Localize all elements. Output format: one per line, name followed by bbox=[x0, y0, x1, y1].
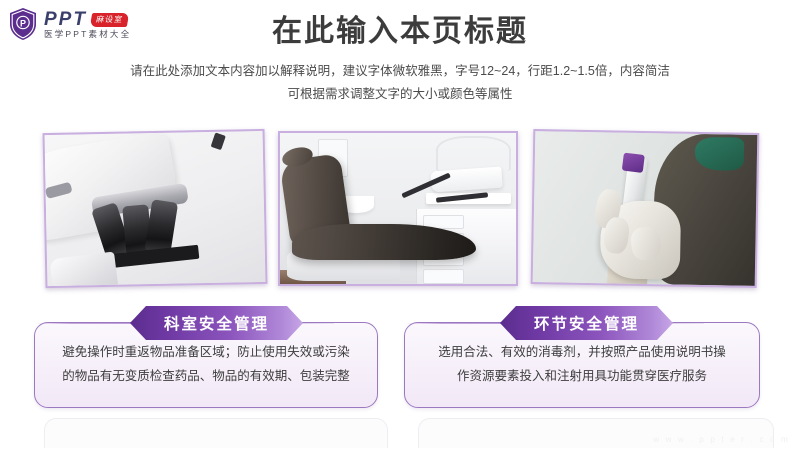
dental-clinic-illustration bbox=[280, 133, 516, 284]
subtitle-line-1: 请在此处添加文本内容加以解释说明，建议字体微软雅黑，字号12~24，行距1.2~… bbox=[0, 60, 800, 83]
dental-clinic-photo[interactable] bbox=[278, 131, 518, 286]
section-2-line-2: 作资源要素投入和注射用具功能贯穿医疗服务 bbox=[438, 365, 726, 389]
section-2-line-1: 选用合法、有效的消毒剂，并按照产品使用说明书操 bbox=[438, 341, 726, 365]
subtitle-line-2: 可根据需求调整文字的大小或颜色等属性 bbox=[0, 83, 800, 106]
section-card-2-text: 选用合法、有效的消毒剂，并按照产品使用说明书操 作资源要素投入和注射用具功能贯穿… bbox=[438, 341, 726, 389]
site-watermark: w w w . p p t e r . c o m bbox=[653, 435, 790, 444]
ribbon-label-1: 科室安全管理 bbox=[130, 306, 303, 340]
section-heading-1[interactable]: 科室安全管理 bbox=[130, 306, 303, 340]
slide-canvas: P PPT 麻设室 医学PPT素材大全 在此输入本页标题 请在此处添加文本内容加… bbox=[0, 0, 800, 450]
microscope-illustration bbox=[45, 131, 266, 286]
section-card-1-text: 避免操作时重返物品准备区域；防止使用失效或污染 的物品有无变质检查药品、物品的有… bbox=[62, 341, 350, 389]
section-1-line-1: 避免操作时重返物品准备区域；防止使用失效或污染 bbox=[62, 341, 350, 365]
section-1-line-2: 的物品有无变质检查药品、物品的有效期、包装完整 bbox=[62, 365, 350, 389]
microscope-photo[interactable] bbox=[43, 129, 268, 288]
section-heading-2[interactable]: 环节安全管理 bbox=[500, 306, 673, 340]
page-subtitle: 请在此处添加文本内容加以解释说明，建议字体微软雅黑，字号12~24，行距1.2~… bbox=[0, 60, 800, 106]
page-title: 在此输入本页标题 bbox=[0, 13, 800, 51]
ribbon-label-2: 环节安全管理 bbox=[500, 306, 673, 340]
section-card-1-shadow bbox=[44, 418, 388, 448]
test-tube-photo[interactable] bbox=[531, 129, 760, 288]
test-tube-illustration bbox=[533, 131, 758, 286]
